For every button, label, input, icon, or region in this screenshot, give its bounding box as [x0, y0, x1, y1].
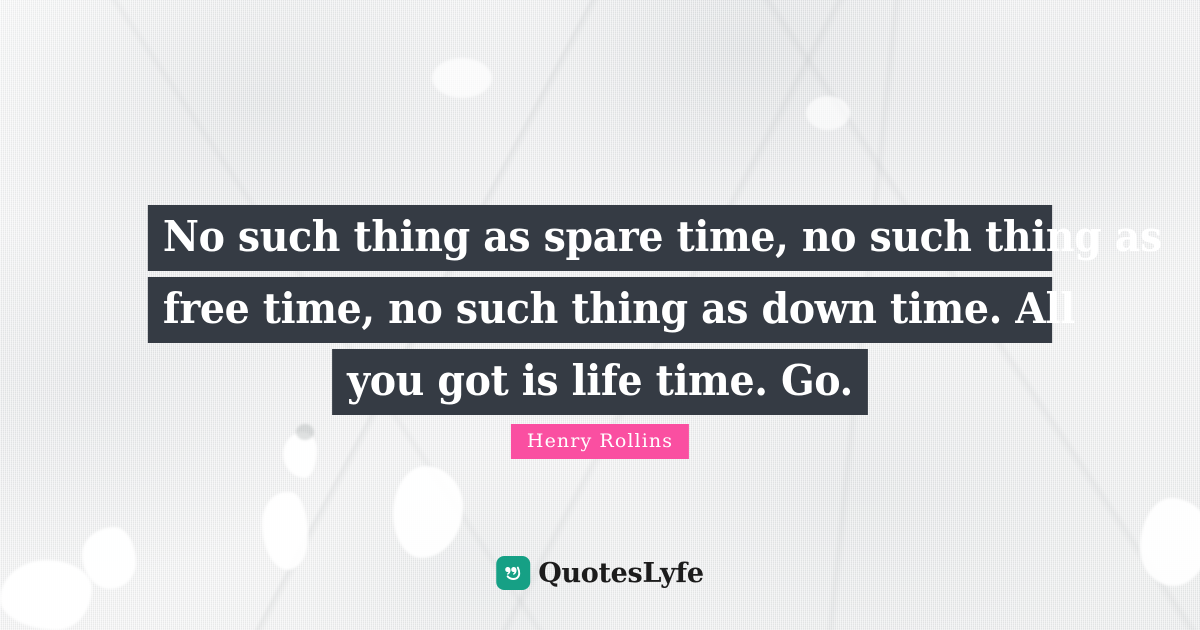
paper-blotch [82, 527, 136, 589]
brand-name: QuotesLyfe [538, 558, 704, 589]
paper-blotch [1140, 498, 1200, 586]
quote-text-block: No such thing as spare time, no such thi… [0, 205, 1200, 421]
quote-smiley-icon [496, 556, 530, 590]
paper-blotch [262, 492, 308, 570]
paper-blotch [432, 58, 492, 98]
paper-blotch [806, 96, 850, 130]
quote-line: free time, no such thing as down time. A… [148, 277, 1052, 343]
quote-line: No such thing as spare time, no such thi… [148, 205, 1052, 271]
paper-blotch [0, 560, 92, 630]
paper-blotch [283, 432, 317, 478]
brand-logo[interactable]: QuotesLyfe [496, 556, 704, 590]
quote-line: you got is life time. Go. [332, 349, 868, 415]
author-badge: Henry Rollins [511, 424, 689, 459]
paper-blotch [393, 466, 463, 558]
quote-card: No such thing as spare time, no such thi… [0, 0, 1200, 630]
paper-blotch [296, 424, 314, 440]
